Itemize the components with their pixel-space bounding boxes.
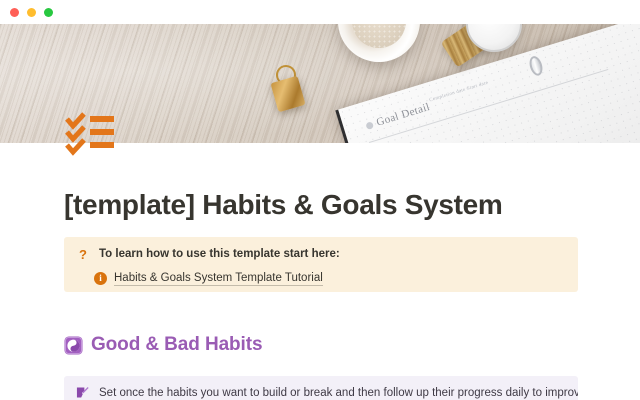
help-callout-text: To learn how to use this template start … xyxy=(99,247,340,262)
habits-description-text: Set once the habits you want to build or… xyxy=(99,386,578,400)
coffee-cup-inner xyxy=(352,24,406,48)
question-mark-icon: ? xyxy=(76,247,90,263)
minimize-button[interactable] xyxy=(27,8,36,17)
habits-description-callout[interactable]: Set once the habits you want to build or… xyxy=(64,376,578,400)
app-window: Goal Detail Goal Summary - Write your in… xyxy=(0,0,640,400)
section-title: Good & Bad Habits xyxy=(91,334,262,356)
maximize-button[interactable] xyxy=(44,8,53,17)
section-heading-good-bad-habits[interactable]: Good & Bad Habits xyxy=(64,334,262,356)
coffee-foam xyxy=(352,24,406,48)
yin-yang-icon xyxy=(64,336,83,355)
habits-description-row: Set once the habits you want to build or… xyxy=(76,386,566,400)
checklist-icon[interactable] xyxy=(64,112,116,158)
info-circle-icon: i xyxy=(94,272,107,285)
help-callout[interactable]: ? To learn how to use this template star… xyxy=(64,237,578,292)
window-titlebar xyxy=(0,0,640,24)
page-title: [template] Habits & Goals System xyxy=(64,189,503,221)
tutorial-link-row[interactable]: i Habits & Goals System Template Tutoria… xyxy=(94,271,566,286)
help-callout-row: ? To learn how to use this template star… xyxy=(76,247,566,263)
memo-icon xyxy=(76,386,90,399)
close-button[interactable] xyxy=(10,8,19,17)
tutorial-link[interactable]: Habits & Goals System Template Tutorial xyxy=(114,271,323,286)
